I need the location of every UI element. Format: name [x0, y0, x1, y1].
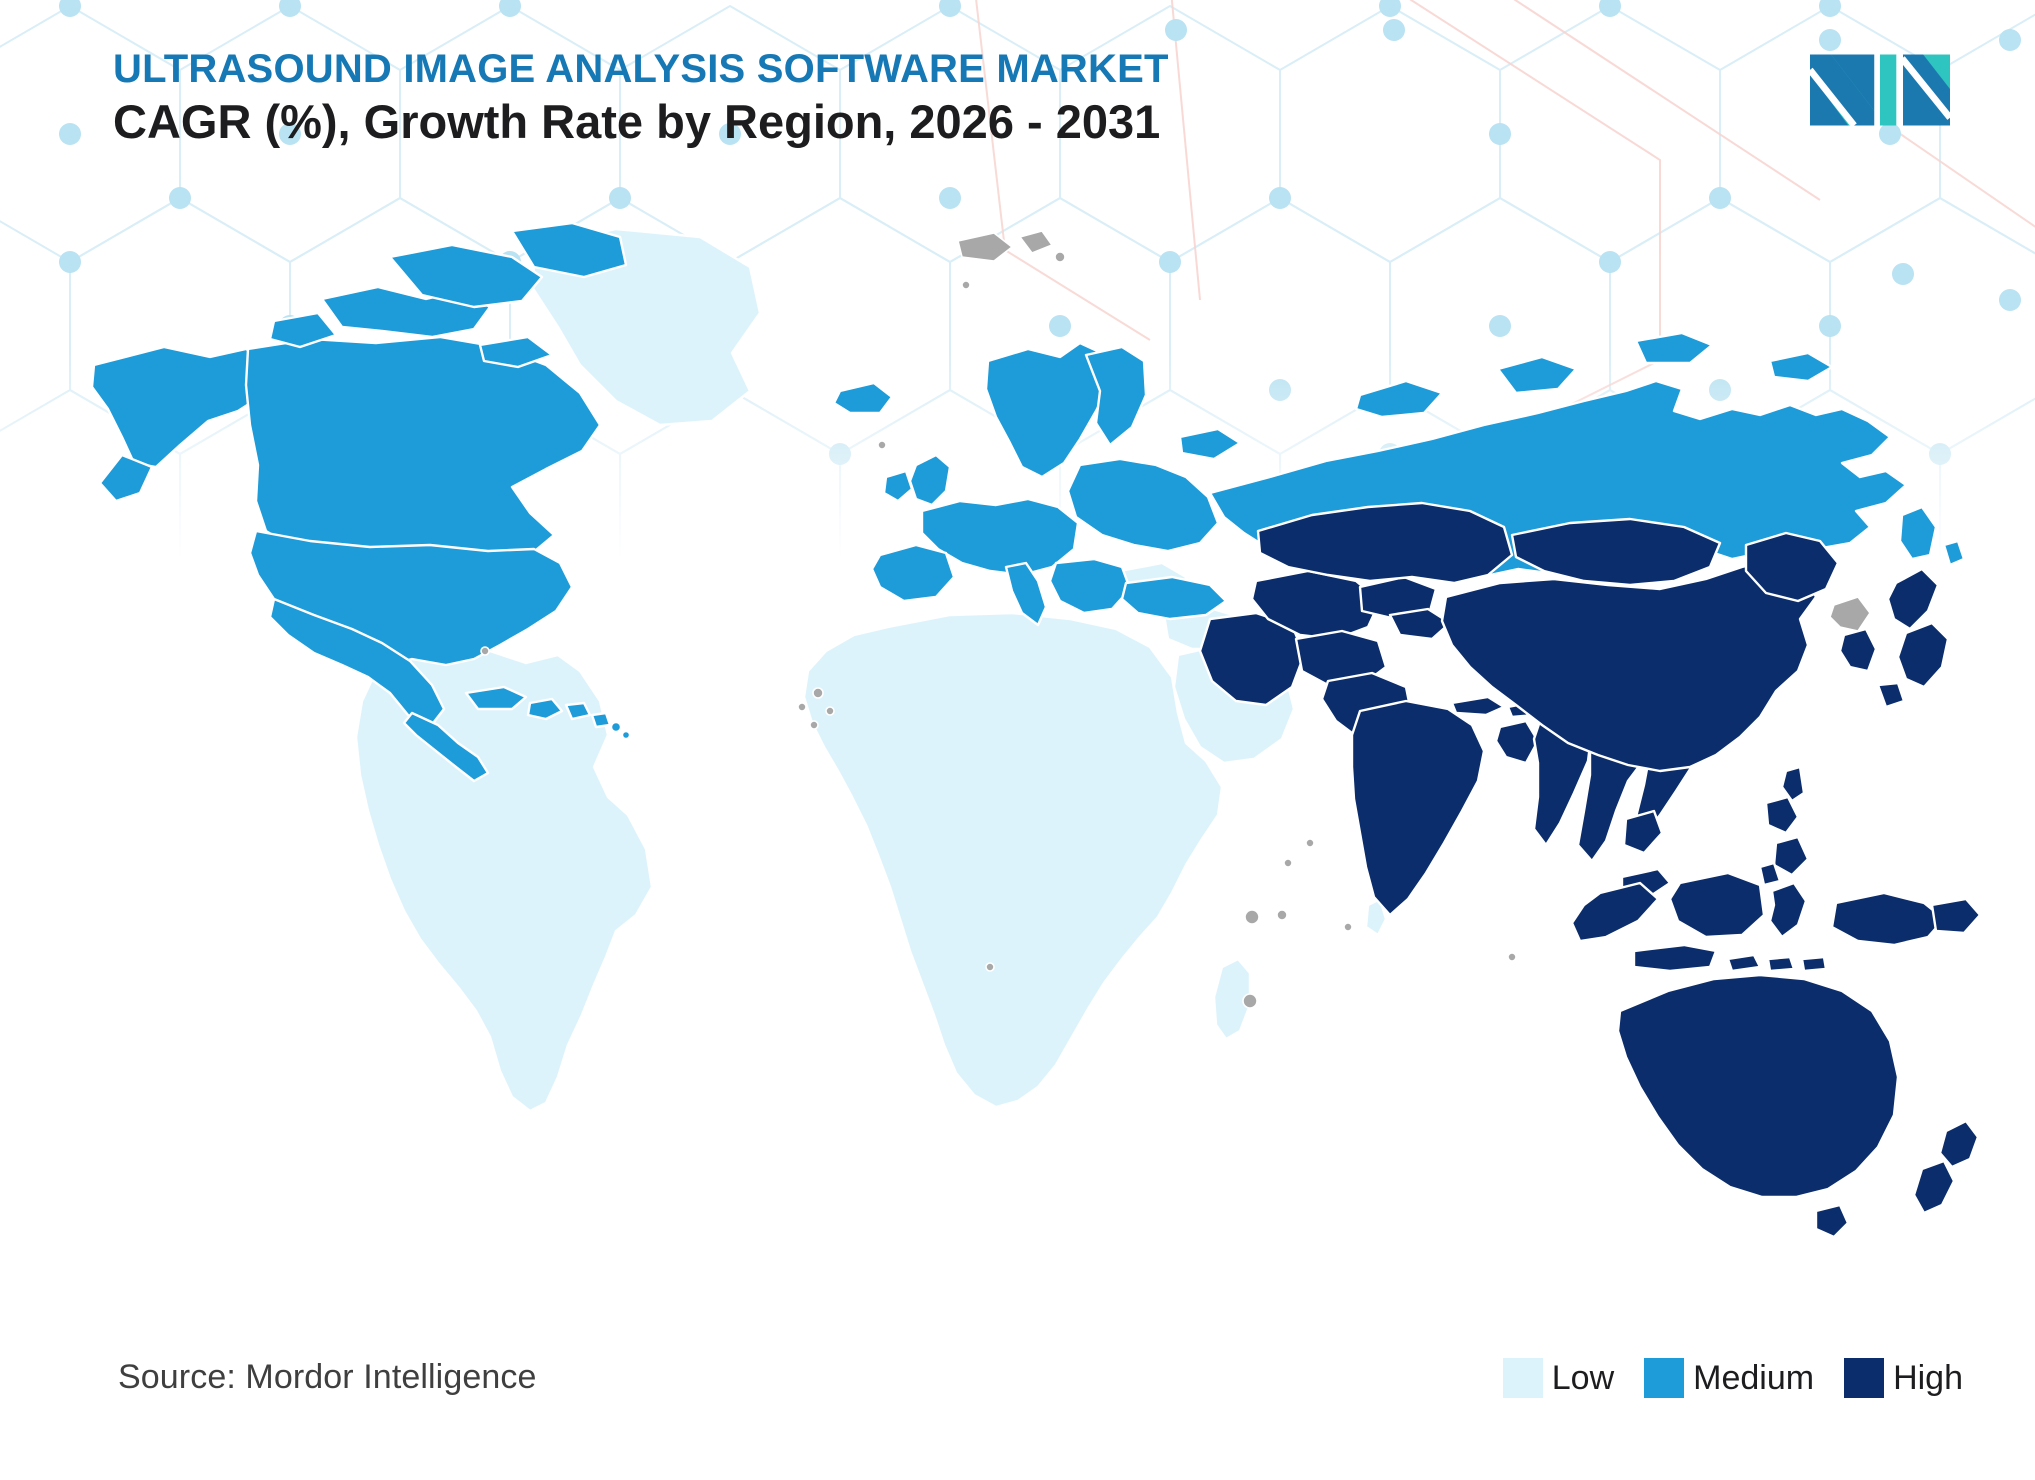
legend-swatch-medium	[1644, 1358, 1684, 1398]
infographic-canvas: ULTRASOUND IMAGE ANALYSIS SOFTWARE MARKE…	[0, 0, 2035, 1480]
legend-item-high[interactable]: High	[1844, 1358, 1963, 1398]
legend-label-high: High	[1893, 1361, 1963, 1395]
chart-header: ULTRASOUND IMAGE ANALYSIS SOFTWARE MARKE…	[113, 48, 1613, 148]
page-title: ULTRASOUND IMAGE ANALYSIS SOFTWARE MARKE…	[113, 48, 1613, 90]
legend-swatch-low	[1503, 1358, 1543, 1398]
legend-label-medium: Medium	[1693, 1361, 1814, 1395]
legend-label-low: Low	[1552, 1361, 1614, 1395]
source-note: Source: Mordor Intelligence	[118, 1358, 536, 1397]
map-legend: Low Medium High	[1503, 1358, 1963, 1398]
legend-swatch-high	[1844, 1358, 1884, 1398]
world-choropleth-map	[60, 215, 1990, 1290]
chart-subtitle: CAGR (%), Growth Rate by Region, 2026 - …	[113, 96, 1613, 148]
world-map-container	[60, 215, 1990, 1290]
legend-item-low[interactable]: Low	[1503, 1358, 1614, 1398]
mordor-intelligence-logo-icon	[1810, 54, 1950, 126]
legend-item-medium[interactable]: Medium	[1644, 1358, 1814, 1398]
